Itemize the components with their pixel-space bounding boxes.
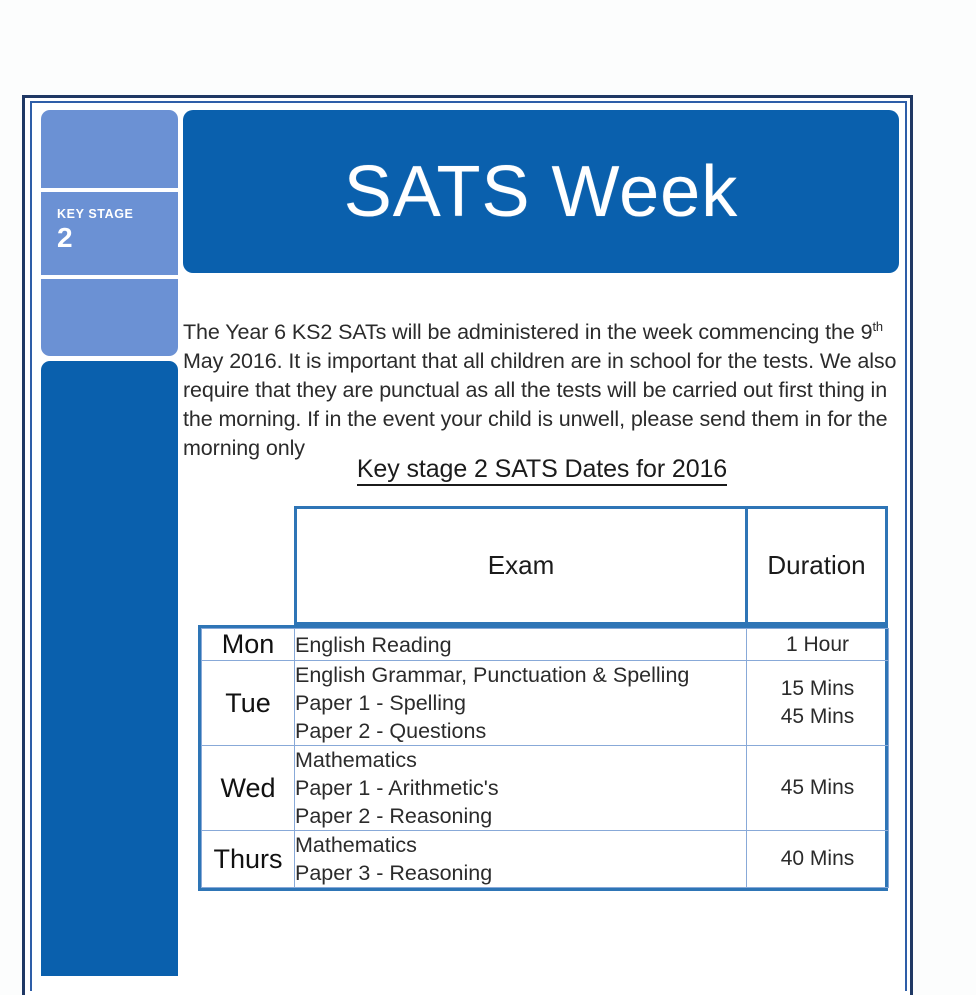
cell-duration: 15 Mins45 Mins <box>747 661 889 746</box>
intro-paragraph: The Year 6 KS2 SATs will be administered… <box>183 312 901 463</box>
schedule-table: MonEnglish Reading1 HourTueEnglish Gramm… <box>198 625 888 891</box>
cell-day: Wed <box>202 746 295 831</box>
intro-text-part2: May 2016. It is important that all child… <box>183 349 896 460</box>
exam-line: English Reading <box>295 631 746 659</box>
cell-duration: 1 Hour <box>747 629 889 661</box>
sidebar-block-bottom <box>41 279 178 356</box>
exam-line: Mathematics <box>295 746 746 774</box>
section-heading: Key stage 2 SATS Dates for 2016 <box>183 455 901 484</box>
duration-line: 1 Hour <box>747 631 888 659</box>
section-heading-text: Key stage 2 SATS Dates for 2016 <box>357 455 727 486</box>
sidebar-key-stage-badge: KEY STAGE 2 <box>41 192 178 275</box>
exam-line: Paper 2 - Reasoning <box>295 802 746 830</box>
cell-exam: English Grammar, Punctuation & SpellingP… <box>295 661 747 746</box>
schedule-table-body: MonEnglish Reading1 HourTueEnglish Gramm… <box>202 629 889 888</box>
exam-line: Paper 2 - Questions <box>295 717 746 745</box>
page-title: SATS Week <box>344 156 738 228</box>
column-header-duration: Duration <box>748 509 885 622</box>
table-row: MonEnglish Reading1 Hour <box>202 629 889 661</box>
key-stage-label: KEY STAGE <box>57 208 133 221</box>
cell-exam: MathematicsPaper 1 - Arithmetic'sPaper 2… <box>295 746 747 831</box>
duration-line: 45 Mins <box>747 703 888 731</box>
column-header-exam: Exam <box>297 509 748 622</box>
intro-text-part1: The Year 6 KS2 SATs will be administered… <box>183 320 872 344</box>
sidebar-block-top <box>41 110 178 188</box>
cell-day: Tue <box>202 661 295 746</box>
cell-duration: 45 Mins <box>747 746 889 831</box>
table-row: TueEnglish Grammar, Punctuation & Spelli… <box>202 661 889 746</box>
table-row: ThursMathematicsPaper 3 - Reasoning40 Mi… <box>202 831 889 888</box>
exam-line: Paper 1 - Arithmetic's <box>295 774 746 802</box>
exam-line: Paper 1 - Spelling <box>295 689 746 717</box>
cell-duration: 40 Mins <box>747 831 889 888</box>
key-stage-number: 2 <box>57 224 73 252</box>
document-page: KEY STAGE 2 SATS Week The Year 6 KS2 SAT… <box>0 0 976 976</box>
title-banner: SATS Week <box>183 110 899 273</box>
ordinal-suffix: th <box>872 319 883 334</box>
exam-line: Paper 3 - Reasoning <box>295 859 746 887</box>
exam-line: English Grammar, Punctuation & Spelling <box>295 661 746 689</box>
cell-day: Mon <box>202 629 295 661</box>
exam-line: Mathematics <box>295 831 746 859</box>
sidebar-accent-column <box>41 361 178 976</box>
duration-line: 45 Mins <box>747 774 888 802</box>
table-row: WedMathematicsPaper 1 - Arithmetic'sPape… <box>202 746 889 831</box>
table-header-box: Exam Duration <box>294 506 888 625</box>
duration-line: 15 Mins <box>747 675 888 703</box>
cell-exam: English Reading <box>295 629 747 661</box>
duration-line: 40 Mins <box>747 845 888 873</box>
cell-day: Thurs <box>202 831 295 888</box>
cell-exam: MathematicsPaper 3 - Reasoning <box>295 831 747 888</box>
